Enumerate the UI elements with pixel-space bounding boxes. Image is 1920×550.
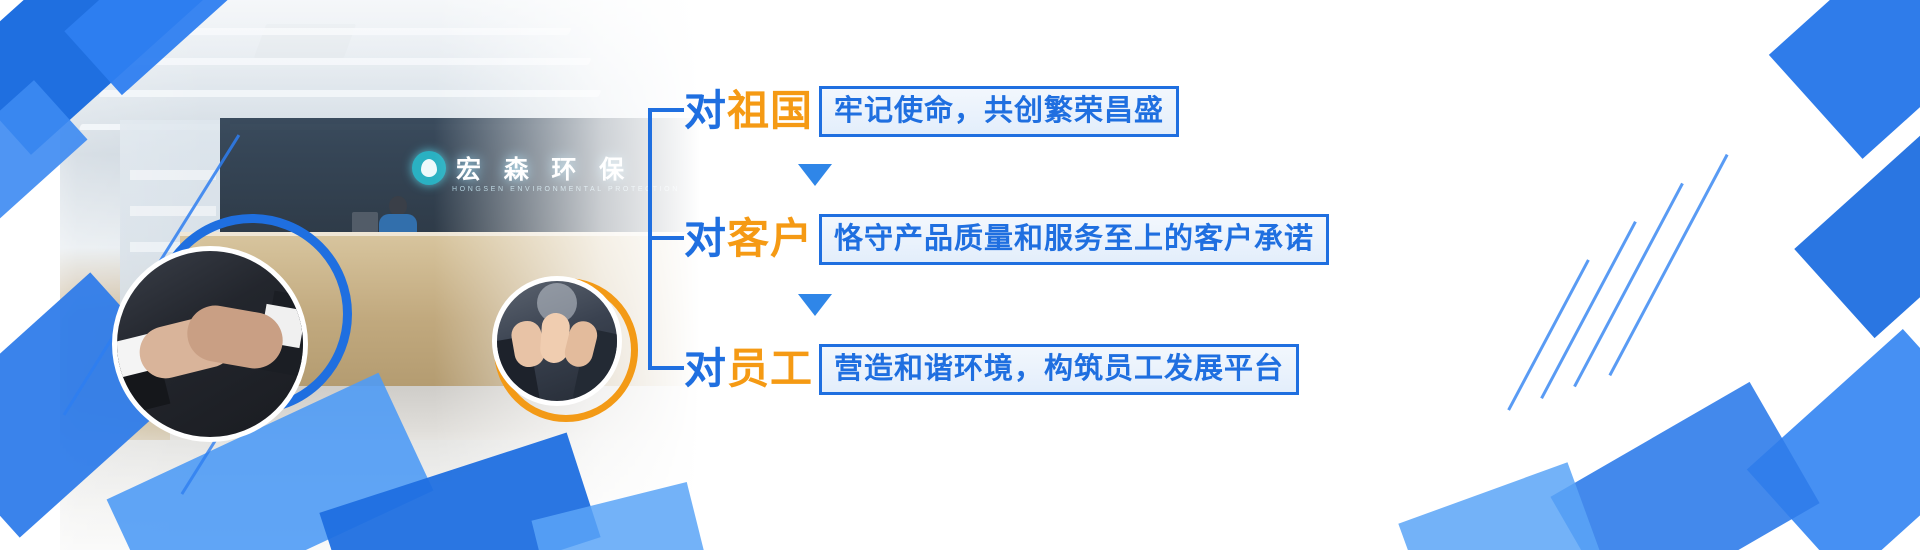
slogan-row-2: 对客户 恪守产品质量和服务至上的客户承诺	[684, 214, 1329, 265]
slogan-lead-1: 对祖国	[684, 90, 813, 132]
slogan-block: 对祖国 牢记使命，共创繁荣昌盛 对客户 恪守产品质量和服务至上的客户承诺 对员工…	[648, 78, 1348, 408]
slogan-tag-1: 牢记使命，共创繁荣昌盛	[819, 86, 1179, 137]
bracket-tick-3	[648, 366, 684, 370]
decor-shape-right-4	[1550, 382, 1819, 550]
slogan-lead-2-blue: 对	[684, 214, 727, 263]
slogan-lead-2-orange: 客户	[727, 214, 813, 263]
bracket-tick-2	[648, 236, 684, 240]
arrow-down-icon	[798, 294, 832, 316]
slogan-lead-1-blue: 对	[684, 86, 727, 135]
decor-line-right-1	[1573, 183, 1684, 387]
slogan-lead-1-orange: 祖国	[727, 86, 813, 135]
slogan-tag-2: 恪守产品质量和服务至上的客户承诺	[819, 214, 1329, 265]
arrow-down-icon	[798, 164, 832, 186]
decor-line-right-4	[1608, 154, 1728, 376]
slogan-row-3: 对员工 营造和谐环境，构筑员工发展平台	[684, 344, 1299, 395]
slogan-lead-3: 对员工	[684, 348, 813, 390]
decor-shape-right-1	[1769, 0, 1920, 159]
slogan-row-1: 对祖国 牢记使命，共创繁荣昌盛	[684, 86, 1179, 137]
decor-shape-right-2	[1794, 122, 1920, 338]
promo-banner: 宏 森 环 保 HONGSEN ENVIRONMENTAL PROTECTION	[0, 0, 1920, 550]
slogan-tag-3: 营造和谐环境，构筑员工发展平台	[819, 344, 1299, 395]
handshake-photo	[112, 246, 308, 442]
slogan-lead-2: 对客户	[684, 218, 813, 260]
bracket-tick-1	[648, 108, 684, 112]
slogan-lead-3-orange: 员工	[727, 344, 813, 393]
decor-line-right-2	[1540, 221, 1637, 399]
decor-shape-right-5	[1398, 462, 1601, 550]
slogan-lead-3-blue: 对	[684, 344, 727, 393]
team-photo	[492, 276, 622, 406]
